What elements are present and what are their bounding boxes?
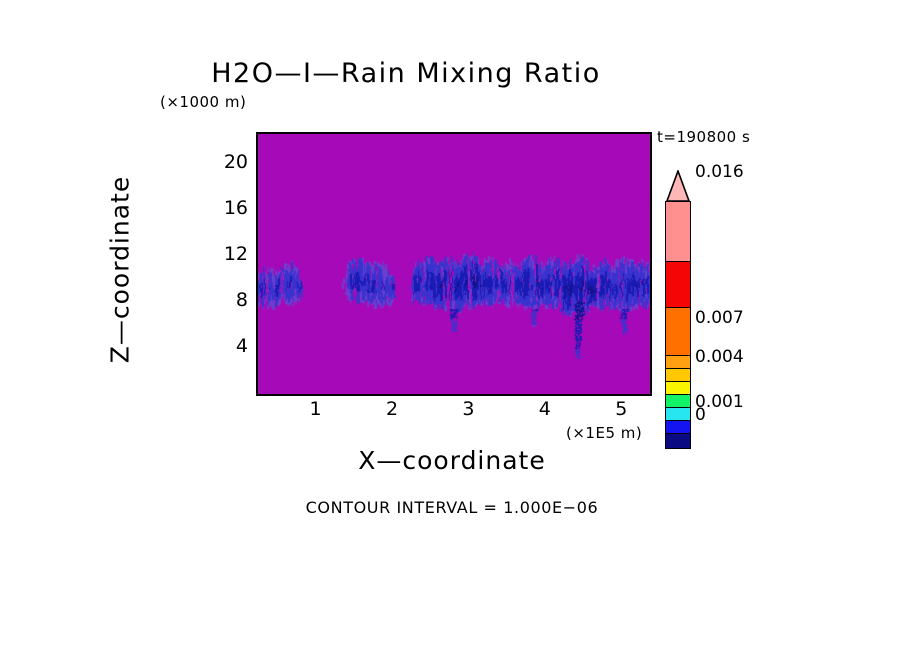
page-title: H2O—I—Rain Mixing Ratio <box>0 58 858 89</box>
colorbar-tick-labels: 0.0160.0070.0040.0010 <box>695 170 815 400</box>
colorbar-label-0_016: 0.016 <box>695 162 744 182</box>
x-tick-3: 3 <box>462 398 474 420</box>
x-axis-units-label: (×1E5 m) <box>566 424 642 442</box>
y-axis-tick-labels: 20161284 <box>196 132 248 392</box>
y-tick-4: 4 <box>196 335 248 357</box>
y-axis-units-label: (×1000 m) <box>160 93 246 111</box>
x-tick-4: 4 <box>539 398 551 420</box>
x-axis-tick-labels: 12345 <box>256 398 648 424</box>
colorbar-band-5 <box>666 382 690 395</box>
x-tick-2: 2 <box>386 398 398 420</box>
colorbar-band-3 <box>666 356 690 369</box>
y-tick-12: 12 <box>196 243 248 265</box>
contour-interval-note: CONTOUR INTERVAL = 1.000E−06 <box>256 498 648 517</box>
colorbar-label-0: 0 <box>695 405 706 425</box>
colorbar-band-9 <box>666 434 690 448</box>
colorbar <box>665 170 691 396</box>
y-axis-title: Z—coordinate <box>106 140 135 400</box>
colorbar-band-0 <box>666 202 690 262</box>
colorbar-band-7 <box>666 408 690 421</box>
colorbar-band-2 <box>666 308 690 356</box>
plot-area <box>256 132 652 396</box>
colorbar-arrow-icon <box>665 170 691 202</box>
colorbar-label-0_004: 0.004 <box>695 347 744 367</box>
colorbar-band-1 <box>666 262 690 308</box>
colorbar-bands <box>665 201 691 449</box>
colorbar-label-0_007: 0.007 <box>695 308 744 328</box>
colorbar-band-6 <box>666 395 690 408</box>
x-axis-title: X—coordinate <box>256 446 648 475</box>
rain-mixing-ratio-field <box>258 134 650 394</box>
x-tick-1: 1 <box>310 398 322 420</box>
colorbar-band-4 <box>666 369 690 382</box>
x-tick-5: 5 <box>615 398 627 420</box>
y-tick-20: 20 <box>196 151 248 173</box>
y-tick-8: 8 <box>196 289 248 311</box>
timestamp-label: t=190800 s <box>657 128 750 146</box>
colorbar-band-8 <box>666 421 690 434</box>
y-tick-16: 16 <box>196 197 248 219</box>
